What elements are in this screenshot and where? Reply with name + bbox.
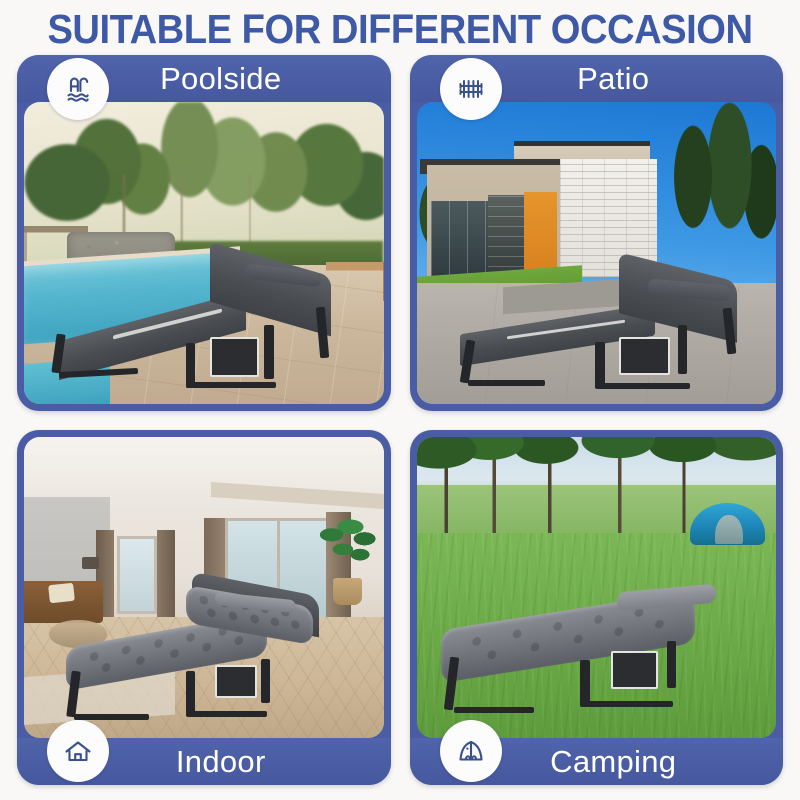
panel-indoor[interactable]: Indoor xyxy=(17,430,391,786)
product-padded-cot xyxy=(60,581,348,726)
product-chaise-lounge xyxy=(53,247,355,398)
panel-camping[interactable]: Camping xyxy=(410,430,784,786)
scene-indoor xyxy=(24,437,384,739)
product-padded-cot xyxy=(438,569,747,726)
panel-poolside[interactable]: Poolside xyxy=(17,55,391,411)
fence-icon xyxy=(440,58,502,120)
panel-photo-camping xyxy=(417,437,777,739)
scene-patio xyxy=(417,102,777,404)
infographic-page: SUITABLE FOR DIFFERENT OCCASION Poolside xyxy=(0,0,800,800)
tent-in-scene xyxy=(690,503,765,545)
house-icon xyxy=(47,720,109,782)
tent-icon xyxy=(440,720,502,782)
product-chaise-lounge xyxy=(460,253,755,398)
page-title: SUITABLE FOR DIFFERENT OCCASION xyxy=(28,6,772,53)
scene-poolside xyxy=(24,102,384,404)
scene-camping xyxy=(417,437,777,739)
panel-photo-patio xyxy=(417,102,777,404)
panel-patio[interactable]: Patio xyxy=(410,55,784,411)
pool-ladder-waves-icon xyxy=(47,58,109,120)
panel-photo-indoor xyxy=(24,437,384,739)
occasion-grid: Poolside xyxy=(17,55,783,785)
panel-photo-poolside xyxy=(24,102,384,404)
